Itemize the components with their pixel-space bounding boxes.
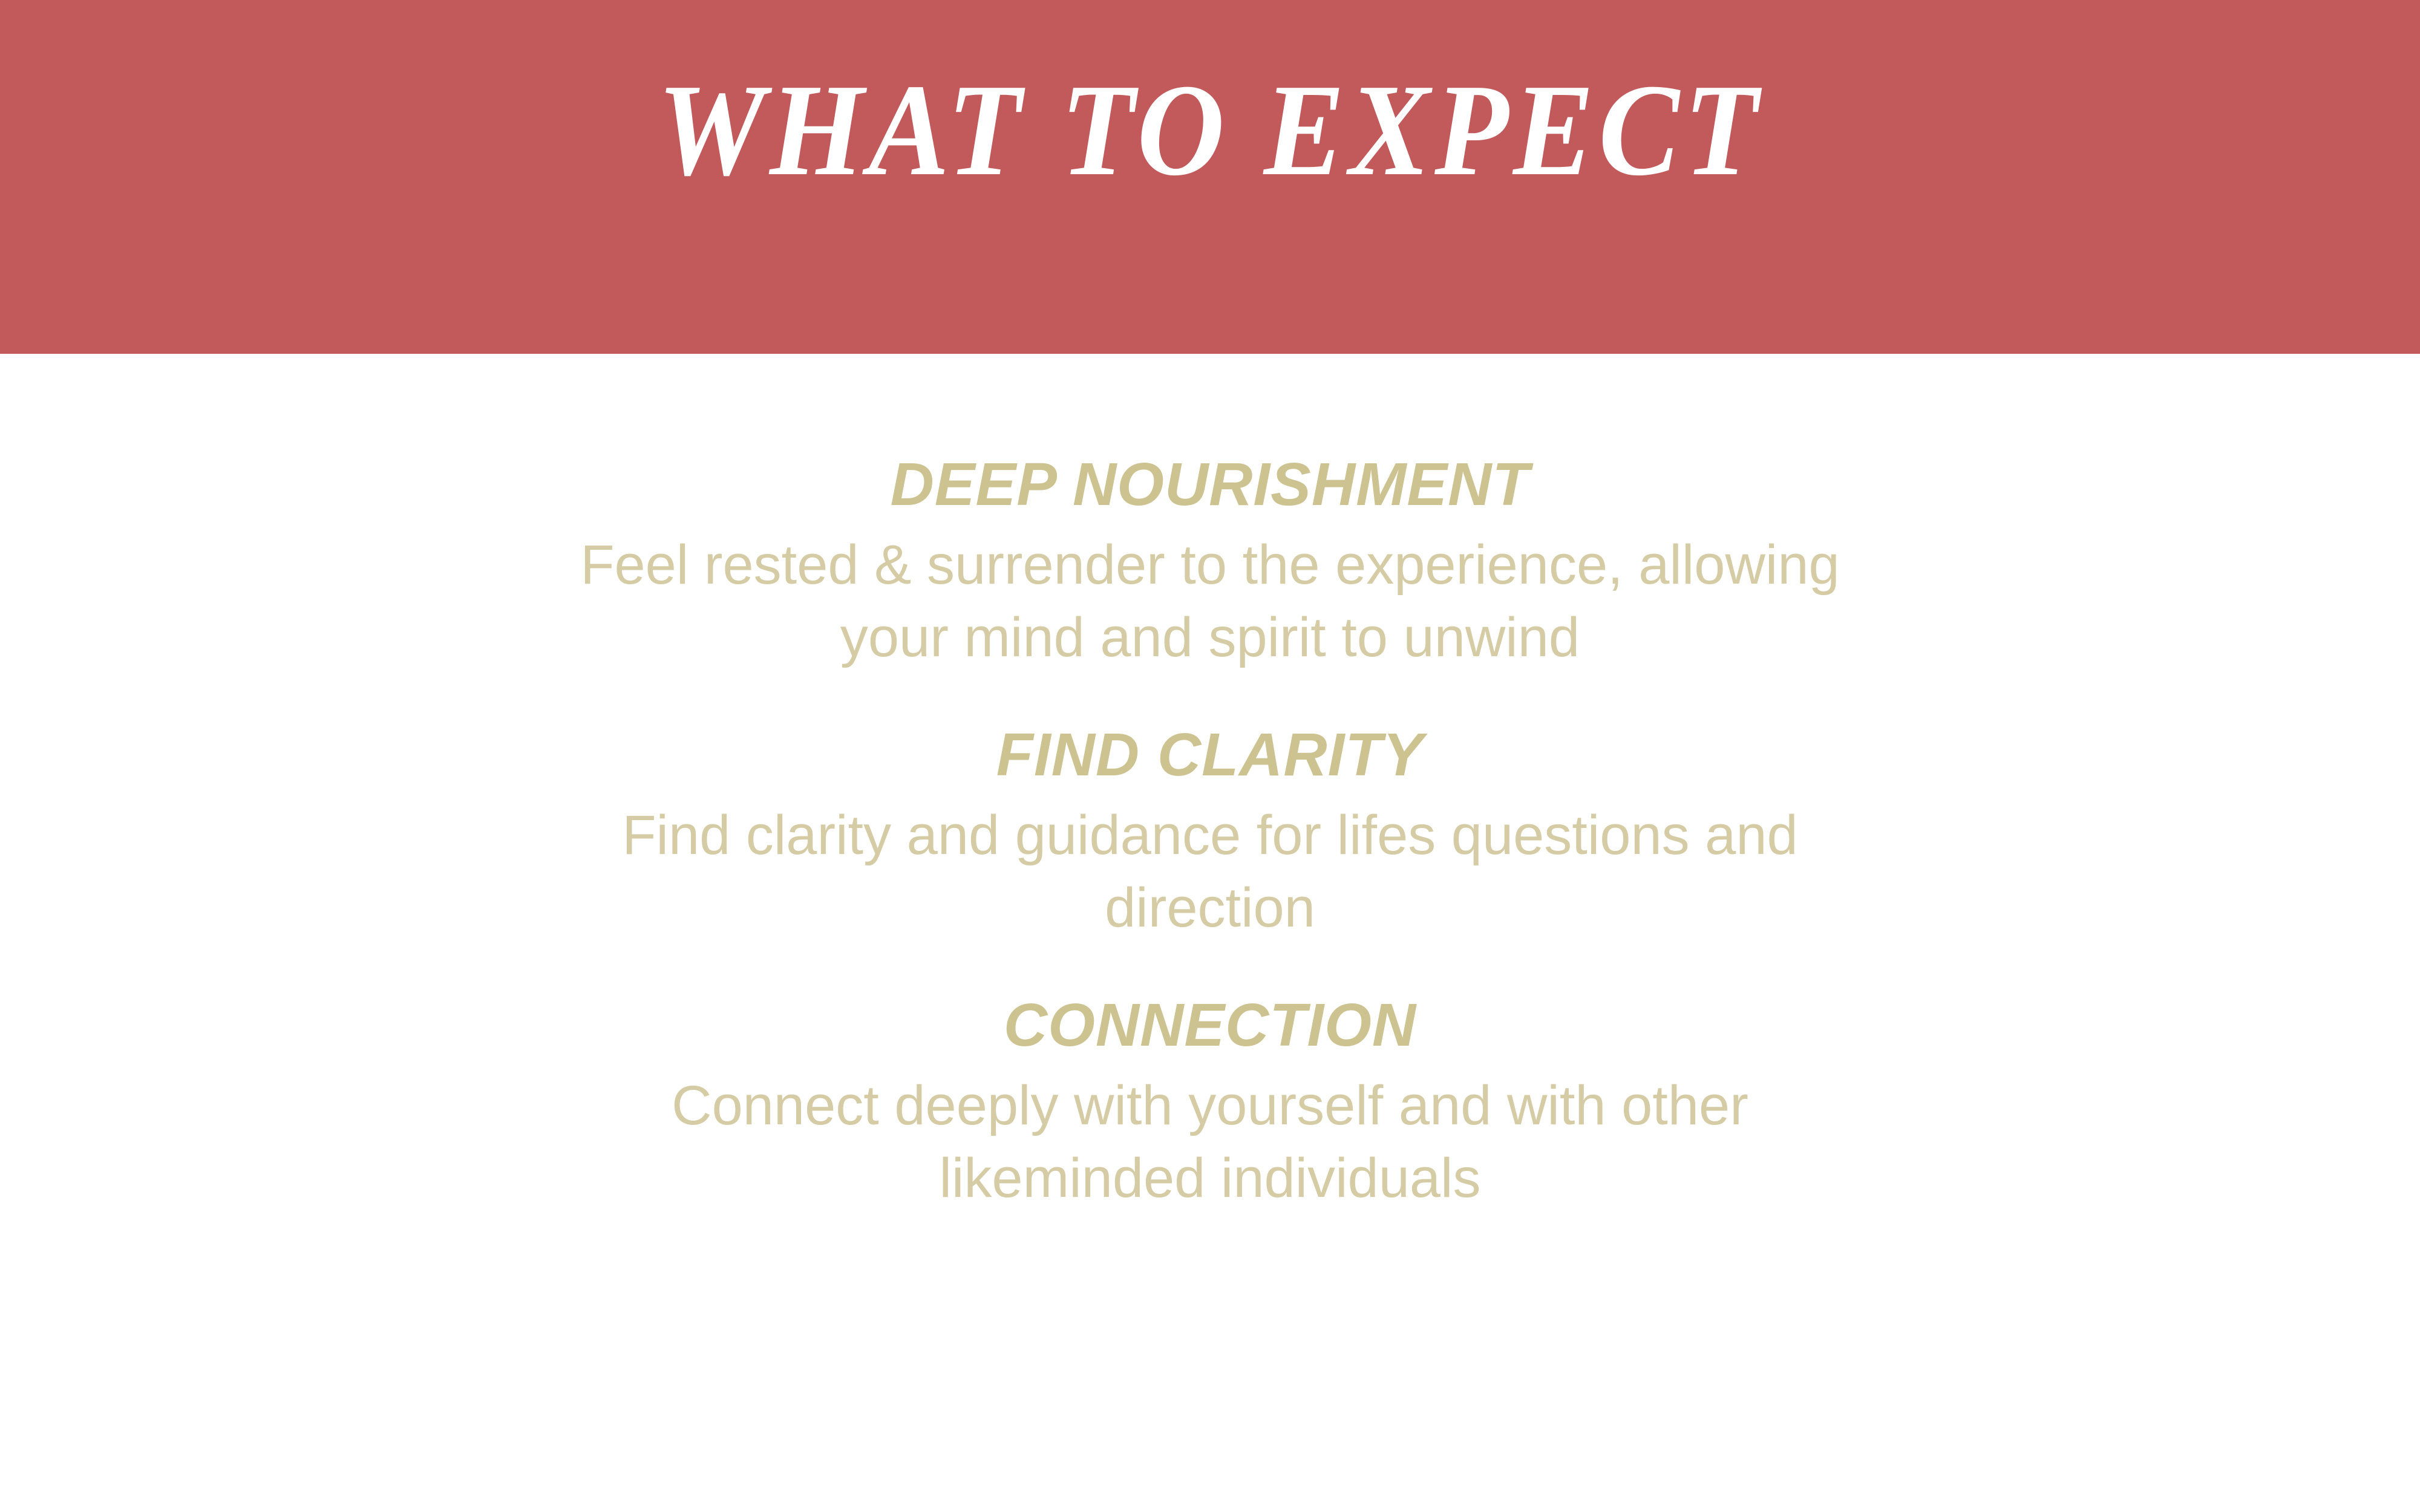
- block-body: Feel rested & surrender to the experienc…: [333, 529, 2087, 674]
- header-band: WHAT TO EXPECT: [0, 0, 2420, 354]
- block-body-line: your mind and spirit to unwind: [333, 602, 2087, 674]
- block-body-line: Find clarity and guidance for lifes ques…: [333, 800, 2087, 872]
- block-body-line: likeminded individuals: [333, 1142, 2087, 1215]
- slide-canvas: WHAT TO EXPECT DEEP NOURISHMENT Feel res…: [0, 0, 2420, 1512]
- expectation-block: CONNECTION Connect deeply with yourself …: [0, 991, 2420, 1214]
- block-heading: FIND CLARITY: [0, 721, 2420, 789]
- block-body-line: direction: [333, 872, 2087, 945]
- block-heading: CONNECTION: [0, 991, 2420, 1059]
- block-body: Find clarity and guidance for lifes ques…: [333, 800, 2087, 944]
- block-body-line: Connect deeply with yourself and with ot…: [333, 1070, 2087, 1142]
- expectation-block: DEEP NOURISHMENT Feel rested & surrender…: [0, 451, 2420, 674]
- page-title: WHAT TO EXPECT: [658, 65, 1763, 197]
- content-area: DEEP NOURISHMENT Feel rested & surrender…: [0, 354, 2420, 1512]
- block-heading: DEEP NOURISHMENT: [0, 451, 2420, 518]
- block-body-line: Feel rested & surrender to the experienc…: [333, 529, 2087, 602]
- expectation-block: FIND CLARITY Find clarity and guidance f…: [0, 721, 2420, 944]
- block-body: Connect deeply with yourself and with ot…: [333, 1070, 2087, 1214]
